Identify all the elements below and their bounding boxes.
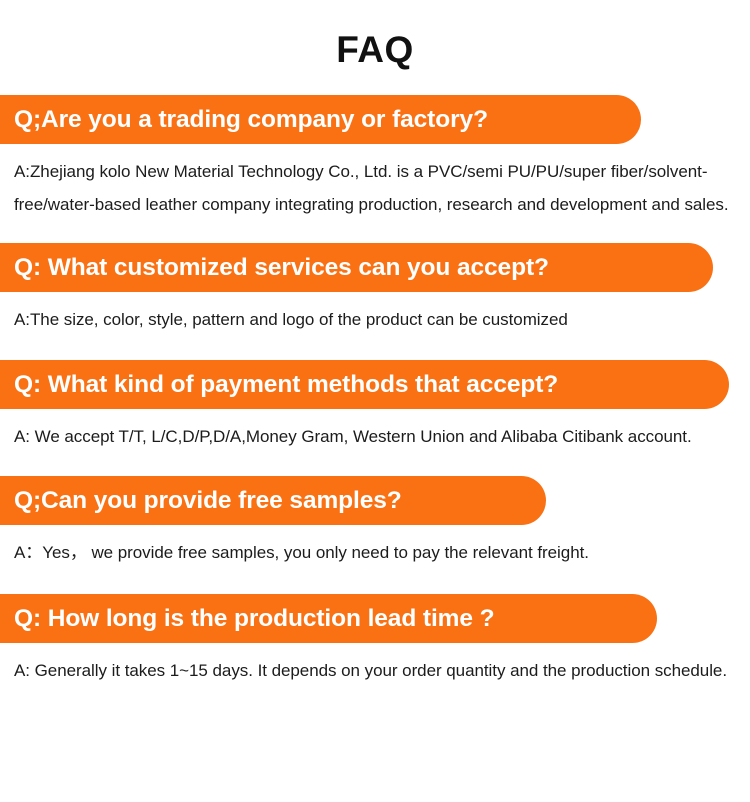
faq-page: FAQ Q;Are you a trading company or facto…	[0, 0, 750, 802]
faq-answer-text: A:The size, color, style, pattern and lo…	[0, 292, 750, 336]
faq-question-banner[interactable]: Q: What customized services can you acce…	[0, 243, 713, 292]
faq-item: Q;Can you provide free samples? A：Yes， w…	[0, 476, 750, 569]
faq-question-banner[interactable]: Q;Can you provide free samples?	[0, 476, 546, 525]
faq-question-banner[interactable]: Q: How long is the production lead time …	[0, 594, 657, 643]
faq-answer-text: A: Generally it takes 1~15 days. It depe…	[0, 643, 750, 687]
page-title: FAQ	[0, 0, 750, 68]
faq-item: Q: What customized services can you acce…	[0, 243, 750, 336]
faq-item: Q;Are you a trading company or factory? …	[0, 95, 750, 221]
faq-list: Q;Are you a trading company or factory? …	[0, 95, 750, 687]
faq-answer-text: A：Yes， we provide free samples, you only…	[0, 525, 750, 569]
faq-answer-text: A: We accept T/T, L/C,D/P,D/A,Money Gram…	[0, 409, 750, 453]
faq-question-banner[interactable]: Q;Are you a trading company or factory?	[0, 95, 641, 144]
faq-item: Q: What kind of payment methods that acc…	[0, 360, 750, 453]
faq-answer-text: A:Zhejiang kolo New Material Technology …	[0, 144, 750, 221]
faq-question-banner[interactable]: Q: What kind of payment methods that acc…	[0, 360, 729, 409]
faq-item: Q: How long is the production lead time …	[0, 594, 750, 687]
